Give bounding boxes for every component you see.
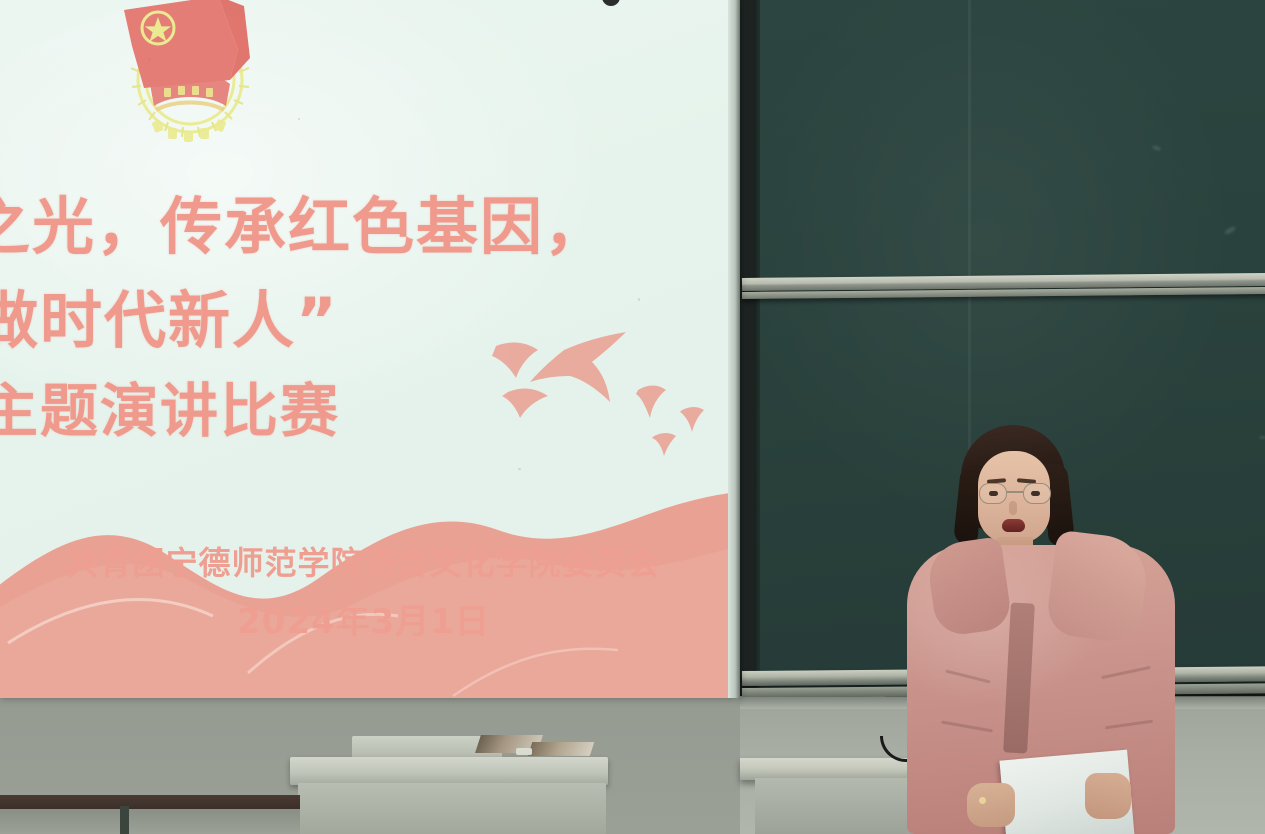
platform-floor — [0, 809, 300, 834]
slide-organization-text: 共青团宁德师范学院语言文化学院委员会 — [6, 538, 721, 584]
speaker-figure — [905, 425, 1180, 834]
blackboard-seam — [754, 0, 760, 690]
desk-object-small-item — [516, 748, 532, 755]
slide-title-line-2: 做时代新人” — [0, 270, 339, 360]
platform-gap — [120, 806, 129, 834]
speaker-ring — [979, 797, 986, 804]
projection-screen-edge — [728, 0, 740, 698]
speaker-hand-right — [1085, 773, 1131, 819]
projection-screen: 之光，传承红色基因， 做时代新人” 主题演讲比赛 共青团宁德师范学院语言文化学院… — [0, 0, 738, 698]
speaker-hand-left — [967, 783, 1015, 827]
speaker-nose — [1009, 501, 1017, 515]
slide-date-text: 2024年3月1日 — [6, 594, 721, 643]
slide-title-line-1: 之光，传承红色基因， — [0, 176, 608, 266]
desk-object-book-2 — [528, 742, 595, 756]
communist-youth-league-emblem-icon — [110, 0, 270, 148]
slide-title-line-3: 主题演讲比赛 — [0, 364, 340, 448]
speaker-hood-right — [1045, 530, 1151, 645]
slide-birds-decoration — [486, 328, 726, 458]
left-desk-surface — [290, 757, 608, 785]
speaker-mouth — [1002, 519, 1025, 532]
photo-canvas: 之光，传承红色基因， 做时代新人” 主题演讲比赛 共青团宁德师范学院语言文化学院… — [0, 0, 1265, 834]
left-desk-body — [298, 783, 606, 834]
